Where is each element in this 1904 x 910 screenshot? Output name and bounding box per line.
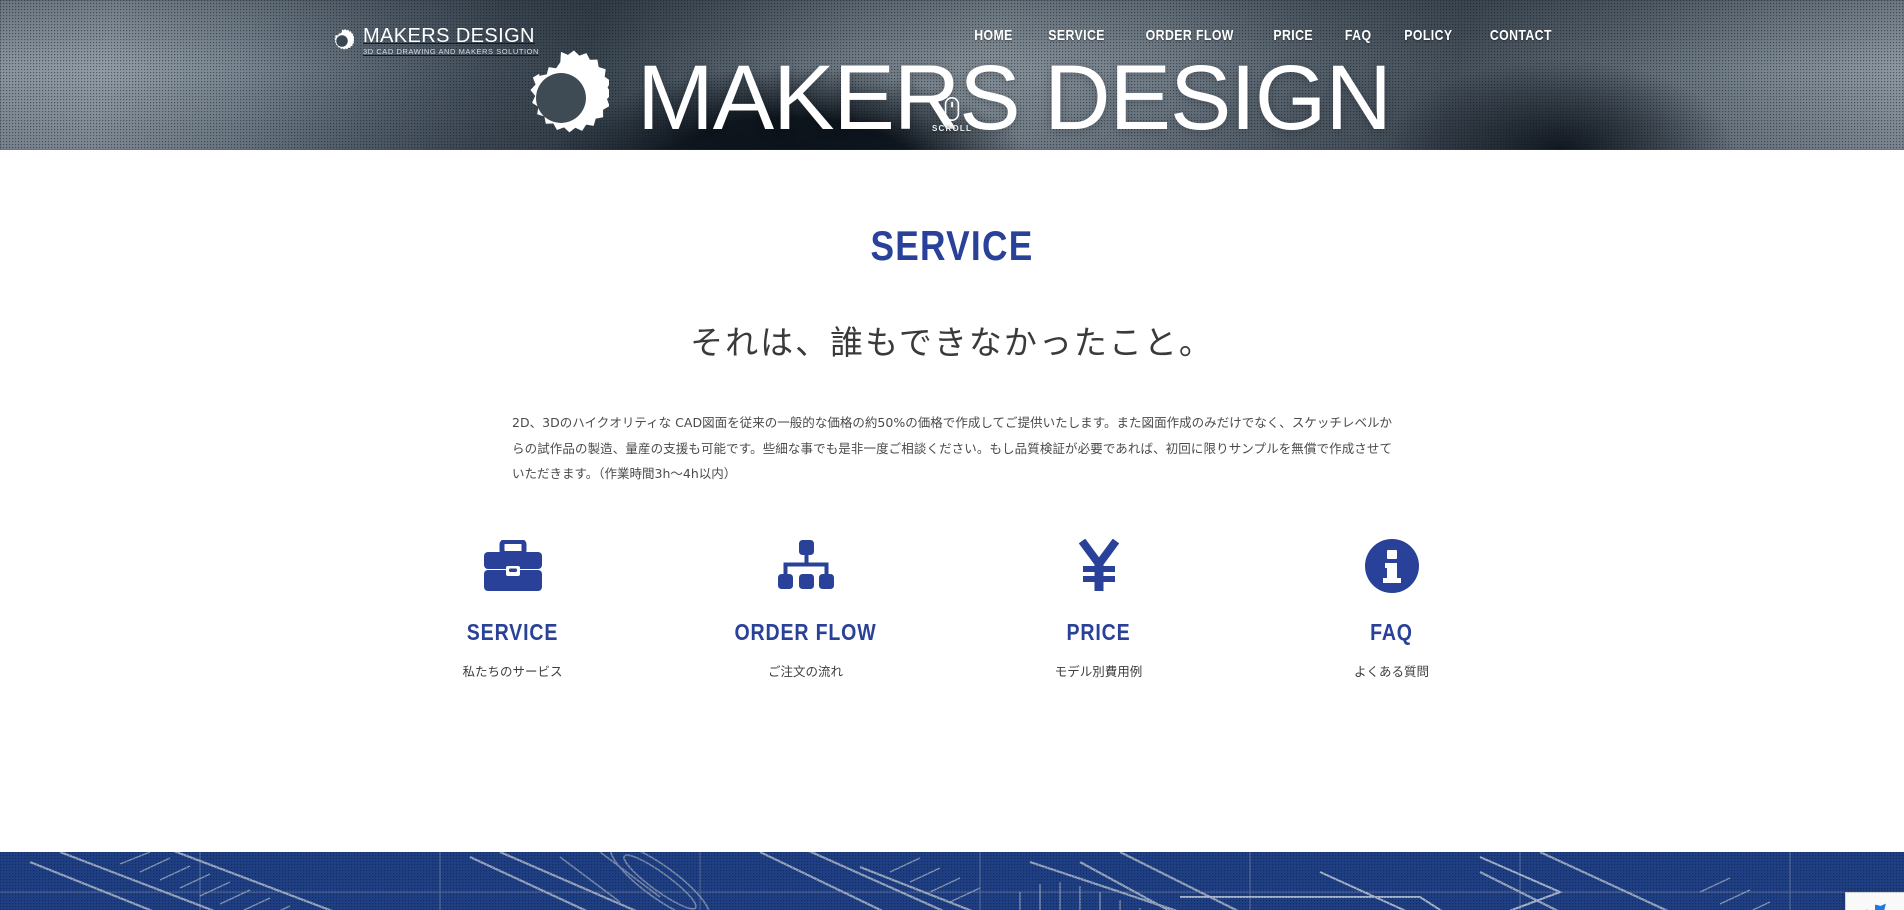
nav-item-service[interactable]: SERVICE [1048, 27, 1105, 44]
page-title: SERVICE [152, 222, 1751, 270]
service-section: SERVICE それは、誰もできなかったこと。 2D、3Dのハイクオリティな C… [0, 222, 1904, 852]
main-navigation[interactable]: HOME SERVICE ORDER FLOW PRICE FAQ POLICY… [970, 27, 1559, 44]
recaptcha-icon [1860, 901, 1890, 910]
service-card-order-flow[interactable]: ORDER FLOW ご注文の流れ [659, 535, 952, 680]
brand-name: MAKERS DESIGN [363, 25, 535, 47]
service-card-price[interactable]: PRICE モデル別費用例 [952, 535, 1245, 680]
service-card-faq[interactable]: FAQ よくある質問 [1245, 535, 1538, 680]
nav-item-home[interactable]: HOME [974, 27, 1013, 44]
nav-item-policy[interactable]: POLICY [1405, 27, 1453, 44]
scroll-indicator[interactable]: SCROLL [932, 96, 972, 133]
section-body-text: 2D、3Dのハイクオリティな CAD図面を従来の一般的な価格の約50%の価格で作… [512, 410, 1392, 487]
service-card-title: SERVICE [388, 619, 637, 646]
recaptcha-badge[interactable]: プライバシー - 利用規約 [1845, 892, 1904, 910]
service-card-subtitle: ご注文の流れ [659, 661, 952, 680]
brand-tagline: 3D CAD DRAWING AND MAKERS SOLUTION [363, 48, 539, 56]
nav-item-contact[interactable]: CONTACT [1490, 27, 1552, 44]
hero-header: MAKERS DESIGN 3D CAD DRAWING AND MAKERS … [0, 0, 1904, 150]
nav-item-price[interactable]: PRICE [1273, 27, 1313, 44]
service-card-subtitle: よくある質問 [1245, 661, 1538, 680]
sitemap-icon [659, 535, 952, 597]
service-card-title: FAQ [1267, 619, 1516, 646]
service-card-service[interactable]: SERVICE 私たちのサービス [366, 535, 659, 680]
scroll-label: SCROLL [932, 124, 972, 133]
briefcase-icon [366, 535, 659, 597]
section-lead: それは、誰もできなかったこと。 [0, 316, 1904, 364]
gear-icon [513, 50, 609, 146]
service-card-title: ORDER FLOW [681, 619, 930, 646]
yen-icon [952, 535, 1245, 597]
nav-item-faq[interactable]: FAQ [1345, 27, 1372, 44]
service-card-subtitle: モデル別費用例 [952, 661, 1245, 680]
blueprint-halftone-overlay [0, 852, 1904, 910]
gear-icon [330, 29, 354, 53]
service-card-list: SERVICE 私たちのサービス ORDER FLOW ご注文の流れ [0, 535, 1904, 680]
mouse-icon [944, 96, 960, 122]
hero-title: MAKERS DESIGN [637, 52, 1391, 144]
nav-item-order-flow[interactable]: ORDER FLOW [1146, 27, 1234, 44]
service-card-title: PRICE [974, 619, 1223, 646]
service-card-subtitle: 私たちのサービス [366, 661, 659, 680]
brand-logo[interactable]: MAKERS DESIGN 3D CAD DRAWING AND MAKERS … [330, 26, 539, 56]
blueprint-footer: プライバシー - 利用規約 [0, 852, 1904, 910]
info-circle-icon [1245, 535, 1538, 597]
